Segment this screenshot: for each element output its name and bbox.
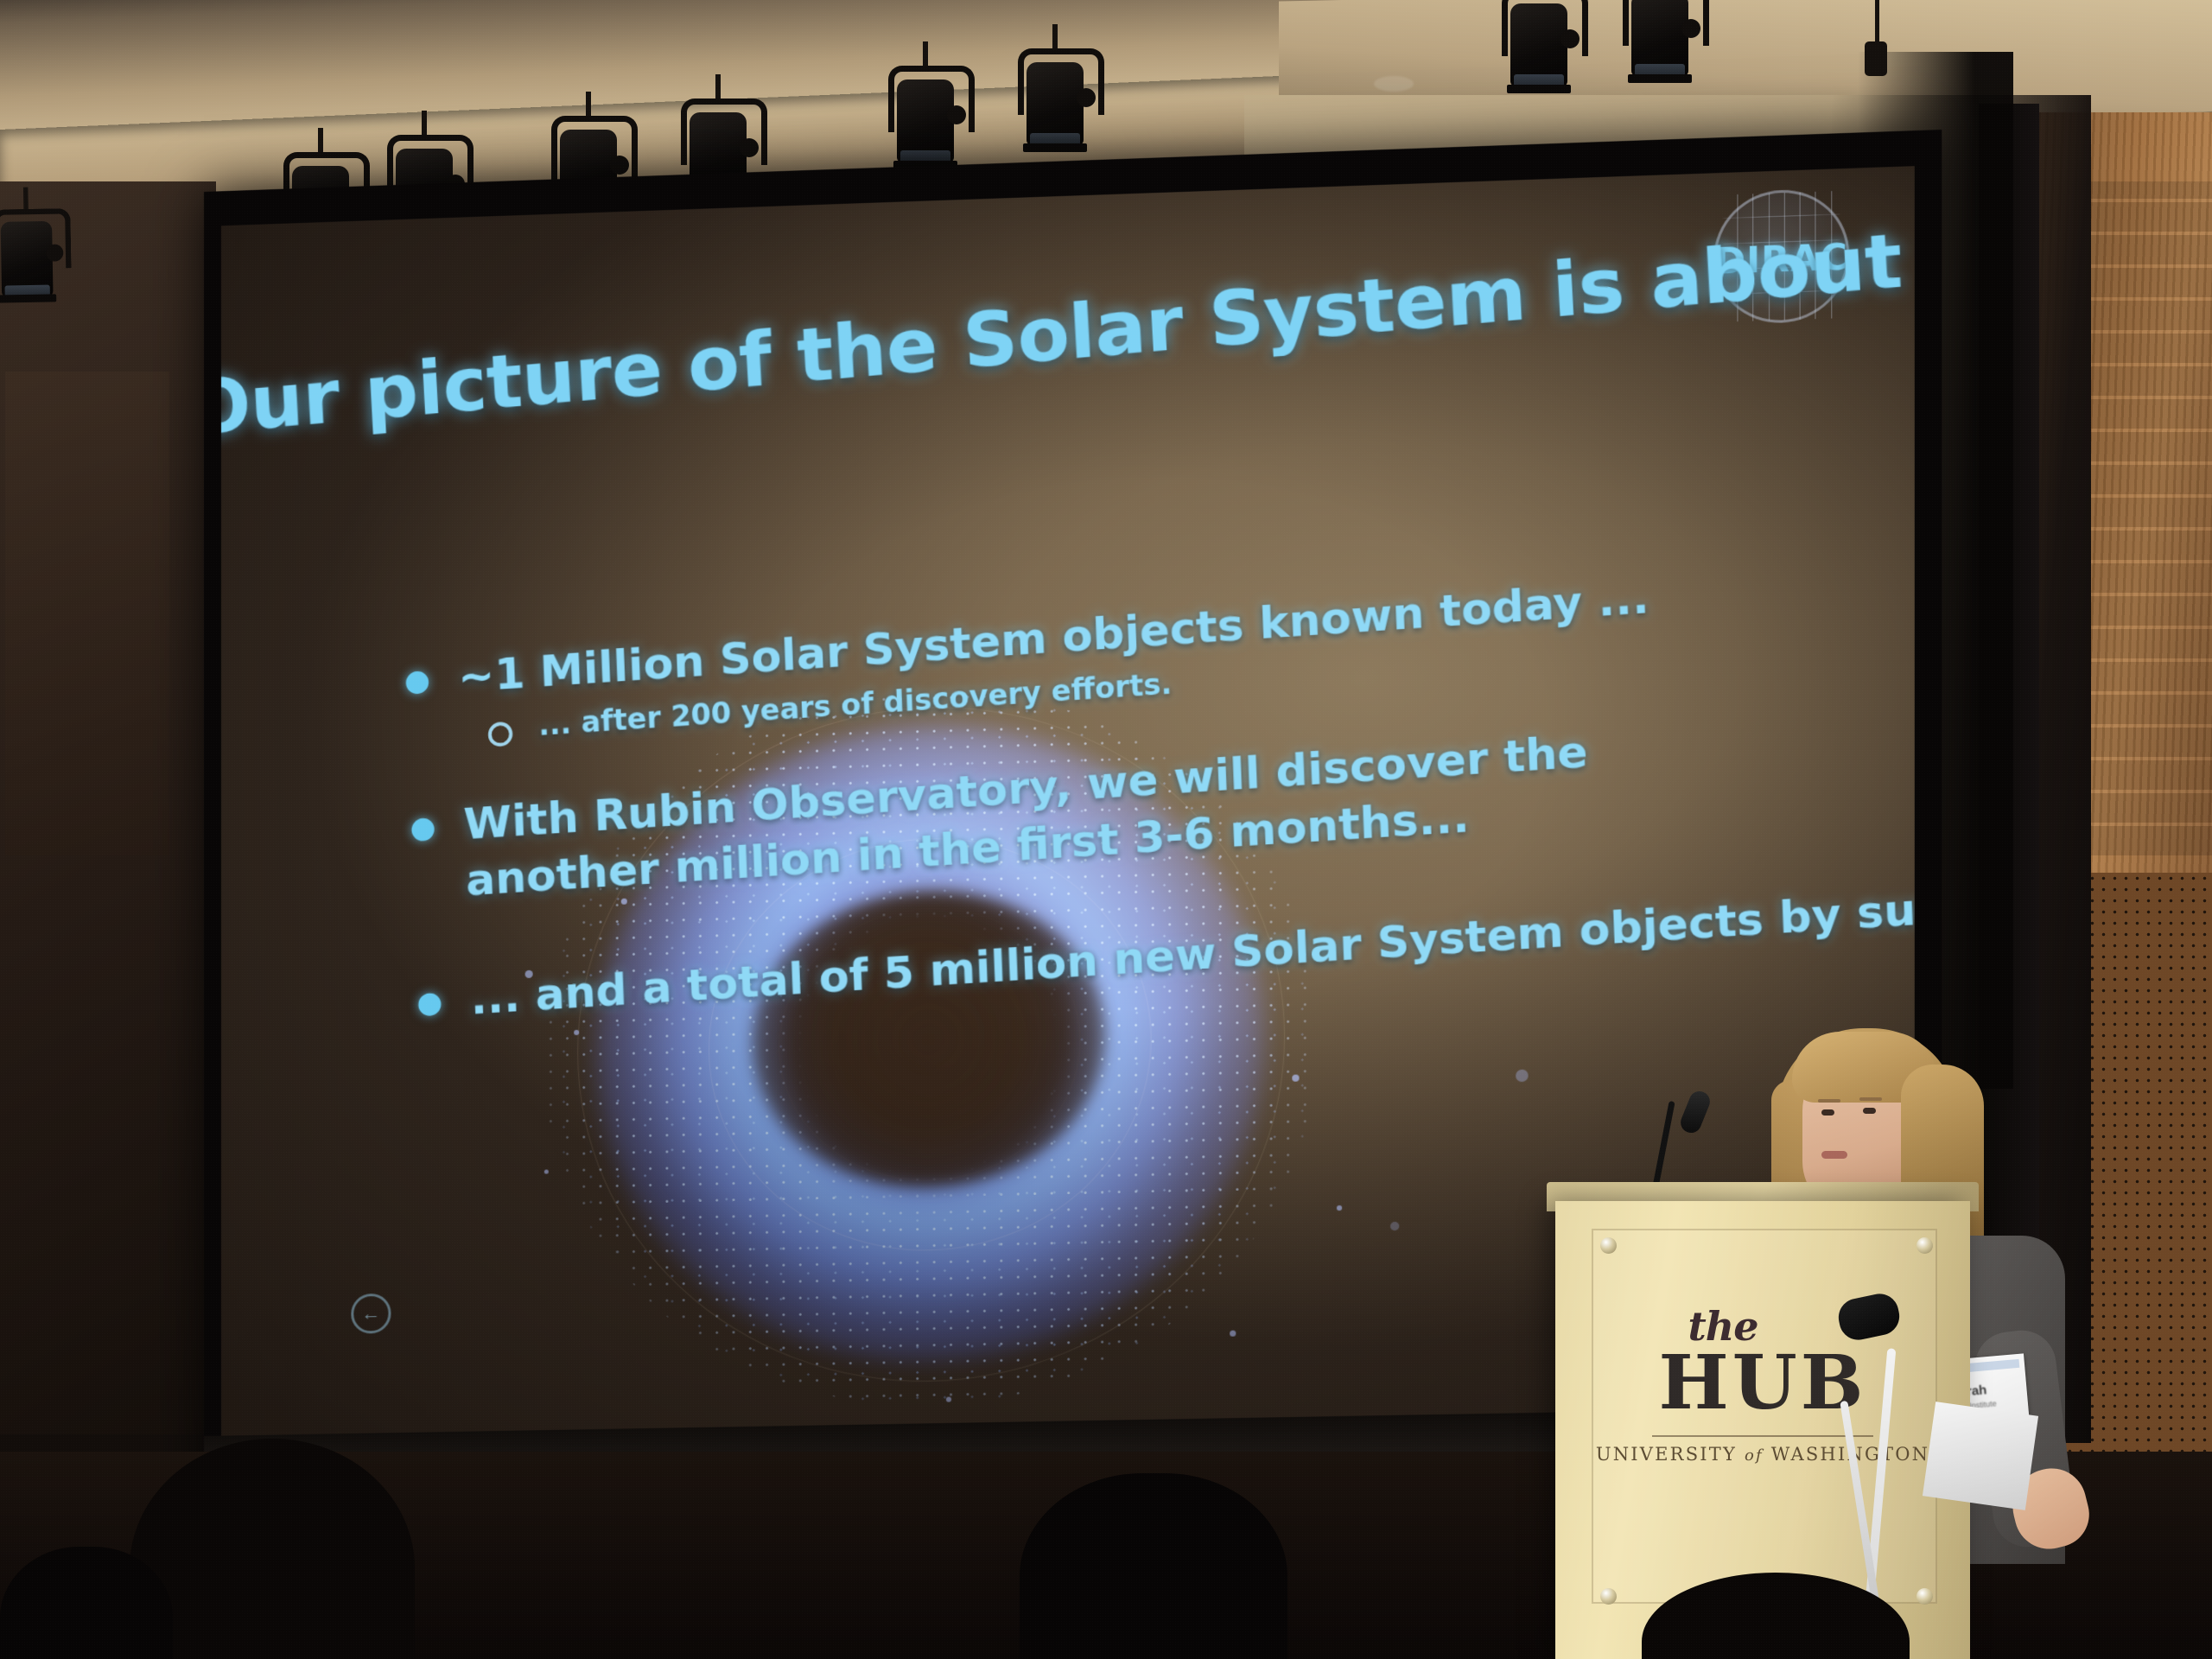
- hub-logo: the HUB UNIVERSITY of WASHINGTON: [1555, 1303, 1970, 1465]
- stage-spotlight-icon: [1020, 43, 1090, 156]
- bullet-ring-icon: [487, 721, 512, 747]
- laptop: [1923, 1402, 2038, 1510]
- panel-standoff: [1600, 1237, 1617, 1254]
- stage-spotlight-icon: [0, 204, 60, 306]
- panel-standoff: [1916, 1588, 1933, 1605]
- hub-main-word: HUB: [1555, 1339, 1970, 1427]
- ceiling-cable: [1875, 0, 1879, 43]
- audience-silhouette: [1020, 1473, 1287, 1659]
- bullet-dot-icon: [411, 817, 435, 842]
- hub-subtitle-of: of: [1745, 1446, 1764, 1465]
- hub-subtitle: UNIVERSITY of WASHINGTON: [1555, 1444, 1970, 1465]
- hub-divider: [1652, 1435, 1873, 1437]
- stage-spotlight-icon: [1503, 0, 1574, 97]
- hub-subtitle-university: UNIVERSITY: [1596, 1444, 1737, 1465]
- panel-standoff: [1600, 1588, 1617, 1605]
- bullet-dot-icon: [418, 993, 442, 1017]
- ceiling-vent: [1374, 76, 1414, 92]
- right-wall-slat-texture: [2087, 181, 2212, 855]
- stage-spotlight-icon: [890, 60, 961, 173]
- bullet-dot-icon: [405, 671, 429, 695]
- left-wall-panel: [5, 372, 169, 855]
- stage-spotlight-icon: [1624, 0, 1695, 86]
- ceiling-fixture: [1865, 41, 1887, 76]
- panel-standoff: [1916, 1237, 1933, 1254]
- presentation-photo: DIRAC Our picture of the Solar System is…: [0, 0, 2212, 1659]
